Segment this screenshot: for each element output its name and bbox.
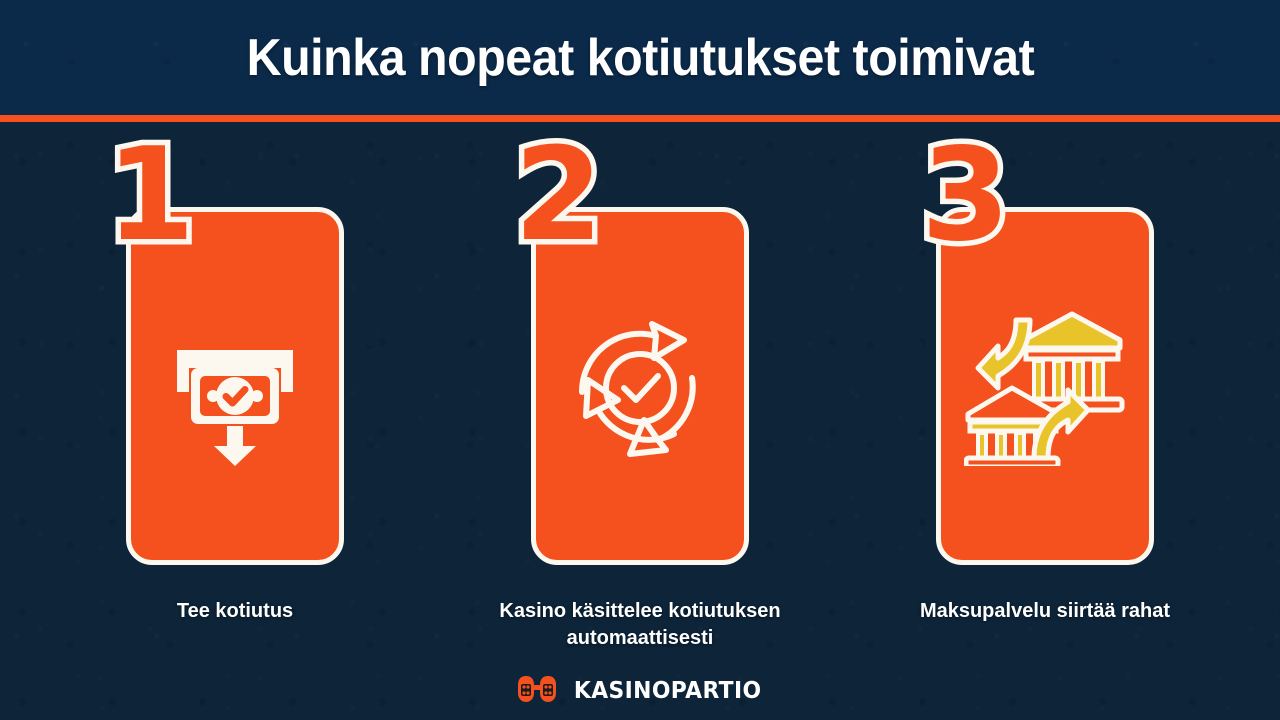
step-card-1[interactable]: 1 bbox=[121, 140, 349, 625]
page-header: Kuinka nopeat kotiutukset toimivat bbox=[0, 0, 1280, 115]
automatic-process-check-icon bbox=[558, 304, 723, 469]
step-1-card-wrapper: 1 bbox=[121, 140, 349, 570]
bank-transfer-icon bbox=[963, 304, 1128, 469]
step-2-card-wrapper: 2 bbox=[526, 140, 754, 570]
steps-row: 1 bbox=[0, 140, 1280, 660]
step-card-3[interactable]: 3 bbox=[931, 140, 1159, 625]
atm-cash-withdrawal-icon bbox=[153, 304, 318, 469]
step-1-caption: Tee kotiutus bbox=[55, 598, 415, 625]
page-title: Kuinka nopeat kotiutukset toimivat bbox=[246, 28, 1034, 88]
step-number-1: 1 bbox=[106, 132, 193, 260]
brand-name: KASINOPARTIO bbox=[574, 678, 762, 704]
footer-brand: KASINOPARTIO bbox=[0, 670, 1280, 712]
step-number-2: 2 bbox=[514, 132, 601, 260]
step-number-3: 3 bbox=[921, 132, 1008, 260]
step-2-caption: Kasino käsittelee kotiutuksen automaatti… bbox=[460, 598, 820, 652]
binoculars-icon bbox=[514, 675, 560, 708]
step-3-caption: Maksupalvelu siirtää rahat bbox=[865, 598, 1225, 625]
step-card-2[interactable]: 2 bbox=[526, 140, 754, 652]
step-3-card-wrapper: 3 bbox=[931, 140, 1159, 570]
